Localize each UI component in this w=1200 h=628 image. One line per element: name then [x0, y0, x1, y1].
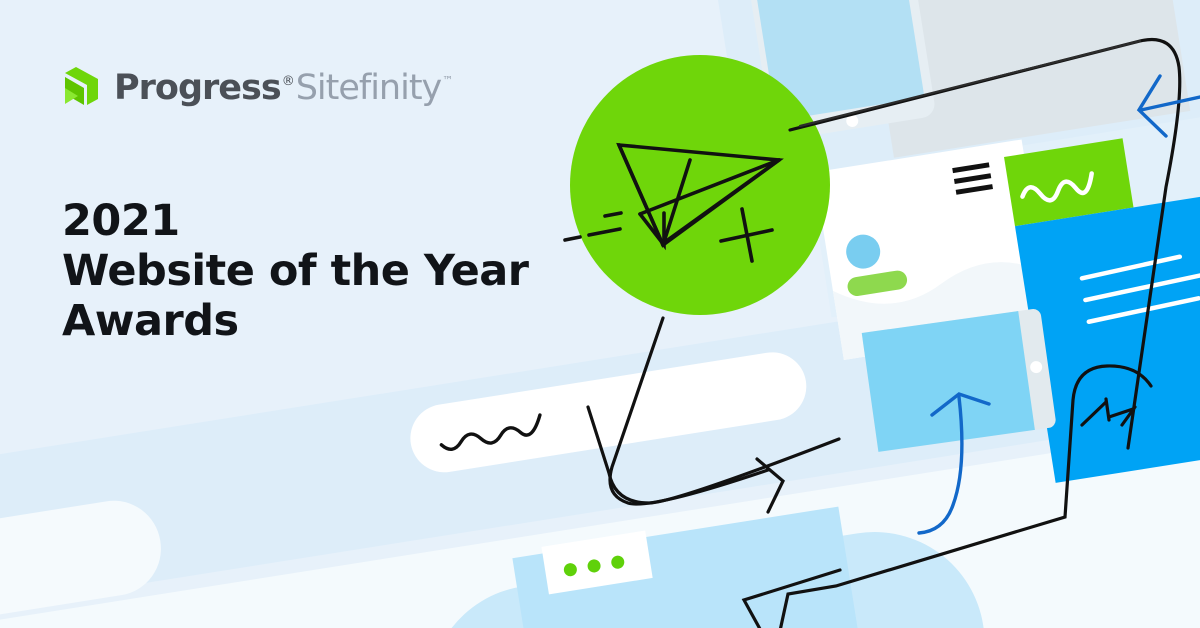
headline-line-2: Website of the Year	[62, 246, 482, 296]
registered-mark: ®	[282, 74, 295, 89]
progress-sitefinity-logo[interactable]: Progress®Sitefinity™	[62, 62, 453, 114]
headline-line-1: 2021	[62, 196, 482, 246]
logo-wordmark: Progress®Sitefinity™	[114, 71, 453, 106]
page-title: 2021 Website of the Year Awards	[62, 196, 482, 346]
headline-line-3: Awards	[62, 296, 482, 346]
logo-word-sitefinity: Sitefinity	[296, 71, 442, 106]
trademark-mark: ™	[442, 74, 453, 87]
progress-chevron-logo-icon	[62, 66, 102, 110]
logo-word-progress: Progress	[114, 71, 281, 106]
awards-banner: Progress®Sitefinity™ 2021 Website of the…	[0, 0, 1200, 628]
